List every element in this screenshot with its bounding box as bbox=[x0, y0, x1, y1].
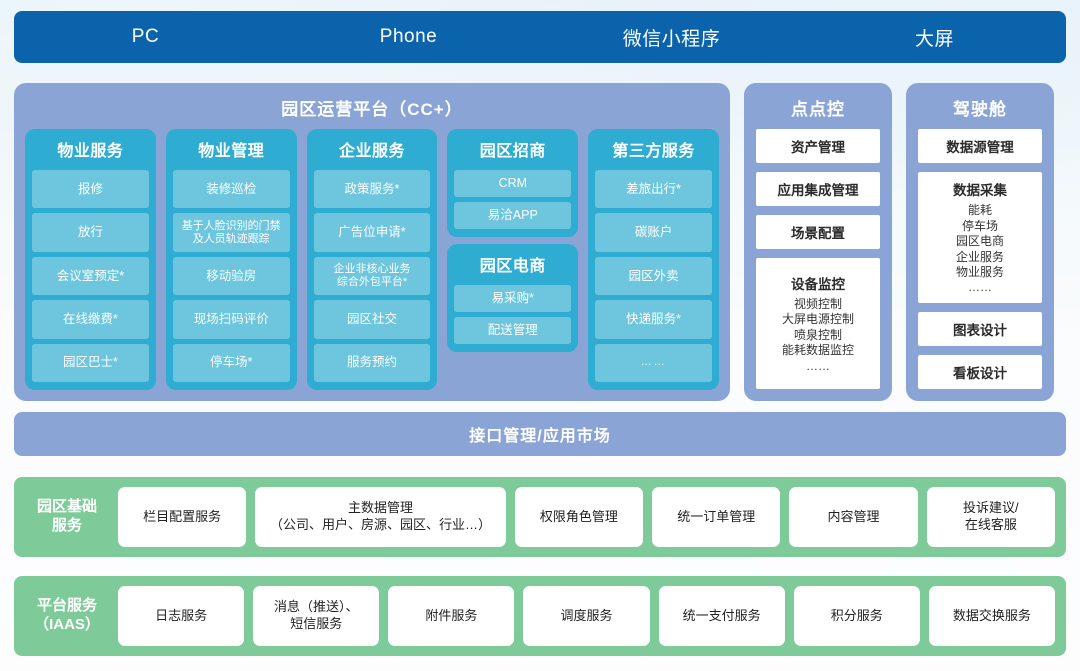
interface-management-bar: 接口管理/应用市场 bbox=[14, 412, 1066, 456]
base-services-row: 园区基础服务 栏目配置服务主数据管理（公司、用户、房源、园区、行业…）权限角色管… bbox=[14, 477, 1066, 557]
panel-card-sub: 视频控制大屏电源控制喷泉控制能耗数据监控…… bbox=[782, 297, 854, 374]
service-group-园区电商: 园区电商易采购*配送管理 bbox=[447, 244, 578, 352]
architecture-diagram: PCPhone微信小程序大屏 园区运营平台（CC+） 物业服务报修放行会议室预定… bbox=[0, 0, 1080, 671]
platform-services-label: 平台服务（IAAS） bbox=[25, 597, 109, 635]
service-chip[interactable]: 快递服务* bbox=[595, 300, 712, 338]
panel-card[interactable]: 场景配置 bbox=[756, 215, 880, 249]
platform-services-row: 平台服务（IAAS） 日志服务消息（推送）、短信服务附件服务调度服务统一支付服务… bbox=[14, 576, 1066, 656]
service-chip[interactable]: CRM bbox=[454, 170, 571, 197]
cc-platform-columns: 物业服务报修放行会议室预定*在线缴费*园区巴士*物业管理装修巡检基于人脸识别的门… bbox=[14, 129, 730, 401]
ddk-panel-body: 资产管理应用集成管理场景配置设备监控视频控制大屏电源控制喷泉控制能耗数据监控…… bbox=[744, 129, 892, 401]
service-chip[interactable]: …… bbox=[595, 344, 712, 382]
panel-card[interactable]: 设备监控视频控制大屏电源控制喷泉控制能耗数据监控…… bbox=[756, 258, 880, 389]
service-group-物业管理: 物业管理装修巡检基于人脸识别的门禁及人员轨迹跟踪移动验房现场扫码评价停车场* bbox=[166, 129, 297, 390]
service-group-title: 物业服务 bbox=[32, 135, 149, 165]
service-card[interactable]: 内容管理 bbox=[789, 487, 917, 547]
service-chip[interactable]: 现场扫码评价 bbox=[173, 300, 290, 338]
cockpit-panel-title: 驾驶舱 bbox=[906, 83, 1054, 129]
panel-card-sub: 能耗停车场园区电商企业服务物业服务…… bbox=[956, 203, 1004, 295]
cc-column-5: 第三方服务差旅出行*碳账户园区外卖快递服务*…… bbox=[588, 129, 719, 390]
ddk-panel: 点点控 资产管理应用集成管理场景配置设备监控视频控制大屏电源控制喷泉控制能耗数据… bbox=[744, 83, 892, 401]
service-chip[interactable]: 碳账户 bbox=[595, 213, 712, 251]
service-card[interactable]: 调度服务 bbox=[523, 586, 649, 646]
service-group-物业服务: 物业服务报修放行会议室预定*在线缴费*园区巴士* bbox=[25, 129, 156, 390]
panel-card-title: 资产管理 bbox=[791, 136, 845, 156]
platform-services-cards: 日志服务消息（推送）、短信服务附件服务调度服务统一支付服务积分服务数据交换服务 bbox=[118, 586, 1055, 646]
base-services-label: 园区基础服务 bbox=[25, 498, 109, 536]
service-group-企业服务: 企业服务政策服务*广告位申请*企业非核心业务综合外包平台*园区社交服务预约 bbox=[307, 129, 438, 390]
service-chip[interactable]: 放行 bbox=[32, 213, 149, 251]
service-group-title: 第三方服务 bbox=[595, 135, 712, 165]
cc-platform-panel: 园区运营平台（CC+） 物业服务报修放行会议室预定*在线缴费*园区巴士*物业管理… bbox=[14, 83, 730, 401]
channel-bar: PCPhone微信小程序大屏 bbox=[14, 11, 1066, 63]
panel-card[interactable]: 图表设计 bbox=[918, 312, 1042, 346]
service-card[interactable]: 主数据管理（公司、用户、房源、园区、行业…） bbox=[255, 487, 505, 547]
service-card[interactable]: 权限角色管理 bbox=[515, 487, 643, 547]
service-group-title: 企业服务 bbox=[314, 135, 431, 165]
service-card[interactable]: 日志服务 bbox=[118, 586, 244, 646]
service-chip[interactable]: 企业非核心业务综合外包平台* bbox=[314, 257, 431, 295]
panel-card[interactable]: 应用集成管理 bbox=[756, 172, 880, 206]
platform-band: 园区运营平台（CC+） 物业服务报修放行会议室预定*在线缴费*园区巴士*物业管理… bbox=[14, 83, 1066, 401]
panel-card-title: 数据采集 bbox=[953, 179, 1007, 199]
service-card[interactable]: 消息（推送）、短信服务 bbox=[253, 586, 379, 646]
service-chip[interactable]: 园区外卖 bbox=[595, 257, 712, 295]
panel-card[interactable]: 数据采集能耗停车场园区电商企业服务物业服务…… bbox=[918, 172, 1042, 303]
service-group-园区招商: 园区招商CRM易洽APP bbox=[447, 129, 578, 237]
service-chip[interactable]: 易采购* bbox=[454, 285, 571, 312]
service-chip[interactable]: 配送管理 bbox=[454, 317, 571, 344]
service-card[interactable]: 统一订单管理 bbox=[652, 487, 780, 547]
service-group-title: 园区电商 bbox=[454, 250, 571, 280]
service-group-title: 物业管理 bbox=[173, 135, 290, 165]
service-card[interactable]: 附件服务 bbox=[388, 586, 514, 646]
base-services-cards: 栏目配置服务主数据管理（公司、用户、房源、园区、行业…）权限角色管理统一订单管理… bbox=[118, 487, 1055, 547]
service-chip[interactable]: 在线缴费* bbox=[32, 300, 149, 338]
service-chip[interactable]: 停车场* bbox=[173, 344, 290, 382]
panel-card-title: 数据源管理 bbox=[946, 136, 1014, 156]
service-chip[interactable]: 差旅出行* bbox=[595, 170, 712, 208]
channel-item-1[interactable]: PC bbox=[14, 26, 277, 48]
channel-item-2[interactable]: Phone bbox=[277, 26, 540, 48]
service-card[interactable]: 统一支付服务 bbox=[659, 586, 785, 646]
service-chip[interactable]: 政策服务* bbox=[314, 170, 431, 208]
panel-card[interactable]: 数据源管理 bbox=[918, 129, 1042, 163]
panel-card-title: 场景配置 bbox=[791, 222, 845, 242]
panel-card[interactable]: 资产管理 bbox=[756, 129, 880, 163]
service-chip[interactable]: 装修巡检 bbox=[173, 170, 290, 208]
service-chip[interactable]: 广告位申请* bbox=[314, 213, 431, 251]
panel-card[interactable]: 看板设计 bbox=[918, 355, 1042, 389]
cc-column-2: 物业管理装修巡检基于人脸识别的门禁及人员轨迹跟踪移动验房现场扫码评价停车场* bbox=[166, 129, 297, 390]
cockpit-panel-body: 数据源管理数据采集能耗停车场园区电商企业服务物业服务……图表设计看板设计 bbox=[906, 129, 1054, 401]
service-card[interactable]: 数据交换服务 bbox=[929, 586, 1055, 646]
panel-card-title: 应用集成管理 bbox=[778, 179, 859, 199]
channel-item-3[interactable]: 微信小程序 bbox=[540, 24, 803, 51]
service-card[interactable]: 投诉建议/在线客服 bbox=[927, 487, 1055, 547]
ddk-panel-title: 点点控 bbox=[744, 83, 892, 129]
cc-column-1: 物业服务报修放行会议室预定*在线缴费*园区巴士* bbox=[25, 129, 156, 390]
panel-card-title: 看板设计 bbox=[953, 362, 1007, 382]
channel-item-4[interactable]: 大屏 bbox=[803, 24, 1066, 51]
service-chip[interactable]: 会议室预定* bbox=[32, 257, 149, 295]
service-card[interactable]: 栏目配置服务 bbox=[118, 487, 246, 547]
panel-card-title: 设备监控 bbox=[791, 273, 845, 293]
cc-column-3: 企业服务政策服务*广告位申请*企业非核心业务综合外包平台*园区社交服务预约 bbox=[307, 129, 438, 390]
cc-platform-title: 园区运营平台（CC+） bbox=[14, 83, 730, 129]
service-chip[interactable]: 报修 bbox=[32, 170, 149, 208]
panel-card-title: 图表设计 bbox=[953, 319, 1007, 339]
service-chip[interactable]: 移动验房 bbox=[173, 257, 290, 295]
service-chip[interactable]: 易洽APP bbox=[454, 202, 571, 229]
cc-column-4: 园区招商CRM易洽APP园区电商易采购*配送管理 bbox=[447, 129, 578, 390]
service-chip[interactable]: 基于人脸识别的门禁及人员轨迹跟踪 bbox=[173, 213, 290, 251]
service-group-title: 园区招商 bbox=[454, 135, 571, 165]
service-card[interactable]: 积分服务 bbox=[794, 586, 920, 646]
service-group-第三方服务: 第三方服务差旅出行*碳账户园区外卖快递服务*…… bbox=[588, 129, 719, 390]
service-chip[interactable]: 园区社交 bbox=[314, 300, 431, 338]
cockpit-panel: 驾驶舱 数据源管理数据采集能耗停车场园区电商企业服务物业服务……图表设计看板设计 bbox=[906, 83, 1054, 401]
service-chip[interactable]: 服务预约 bbox=[314, 344, 431, 382]
service-chip[interactable]: 园区巴士* bbox=[32, 344, 149, 382]
